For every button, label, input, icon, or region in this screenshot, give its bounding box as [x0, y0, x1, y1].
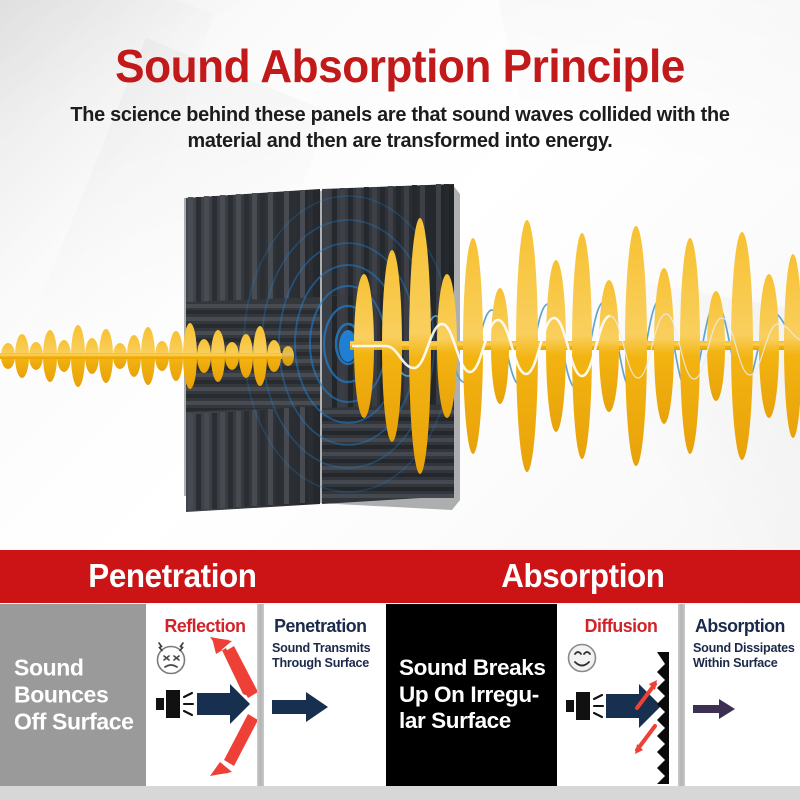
- concepts-strip: Sound Bounces Off Surface Reflection: [0, 604, 800, 786]
- purple-arrow-right-small-icon: [691, 696, 745, 722]
- diffusion-diagram: [561, 634, 683, 786]
- reflected-wave-fade: [282, 346, 294, 366]
- panel-sound-breaks-up: Sound Breaks Up On Irregu- lar Surface: [386, 604, 557, 786]
- band-label-absorption: Absorption: [410, 559, 790, 594]
- caption-line: lar Surface: [399, 708, 511, 733]
- poster-root: Sound Absorption Principle The science b…: [0, 0, 800, 800]
- band-label-penetration: Penetration: [10, 559, 390, 594]
- panel-absorption: Absorption Sound Dissipates Within Surfa…: [685, 604, 800, 786]
- panel-title-absorption: Absorption: [687, 617, 797, 636]
- header: Sound Absorption Principle The science b…: [0, 42, 800, 155]
- panel-subtitle-absorption: Sound Dissipates Within Surface: [693, 641, 798, 671]
- panel-reflection: Reflection: [146, 604, 264, 786]
- speaker-icon: [156, 690, 180, 718]
- caption-line: Sound: [14, 654, 84, 680]
- jagged-surface-icon: [657, 652, 669, 784]
- footer-bar: [0, 786, 800, 800]
- caption-line: Off Surface: [14, 709, 134, 735]
- subtitle-line: Within Surface: [693, 656, 778, 670]
- category-band: Penetration Absorption: [0, 550, 800, 603]
- page-subtitle: The science behind these panels are that…: [12, 102, 788, 155]
- subtitle-line: Through Surface: [272, 656, 369, 670]
- wall-divider-left: [257, 604, 264, 786]
- navy-arrow-right-small-icon: [270, 690, 340, 724]
- red-arrow-down-icon: [210, 714, 258, 776]
- panel-subtitle-penetration: Sound Transmits Through Surface: [272, 641, 384, 671]
- red-arrow-down-thin-icon: [637, 726, 655, 750]
- panel-title-penetration: Penetration: [266, 617, 383, 636]
- speaker-waves-icon: [594, 695, 603, 717]
- speaker-waves-icon: [184, 693, 193, 715]
- page-title: Sound Absorption Principle: [16, 42, 784, 91]
- panel-sound-bounces: Sound Bounces Off Surface: [0, 604, 146, 786]
- reflection-diagram: [150, 636, 260, 784]
- navy-arrow-right-icon: [606, 684, 661, 728]
- caption-line: Sound Breaks: [399, 655, 546, 680]
- panel-title-reflection: Reflection: [148, 617, 261, 636]
- panel-diffusion: Diffusion: [557, 604, 685, 786]
- panel-title-diffusion: Diffusion: [560, 617, 683, 636]
- caption-line: Up On Irregu-: [399, 682, 539, 707]
- subtitle-line: Sound Transmits: [272, 641, 370, 655]
- happy-face-icon: [569, 645, 596, 672]
- panel-caption-sound-bounces: Sound Bounces Off Surface: [14, 654, 134, 735]
- hero-illustration: [0, 170, 800, 542]
- subtitle-line: Sound Dissipates: [693, 641, 795, 655]
- panel-penetration: Penetration Sound Transmits Through Surf…: [264, 604, 386, 786]
- caption-line: Bounces: [14, 681, 108, 707]
- angry-face-features: [164, 656, 179, 667]
- wall-divider-right: [678, 604, 685, 786]
- panel-caption-sound-breaks: Sound Breaks Up On Irregu- lar Surface: [399, 655, 546, 735]
- amplified-soundwave-right: [350, 218, 800, 474]
- speaker-icon: [566, 692, 590, 720]
